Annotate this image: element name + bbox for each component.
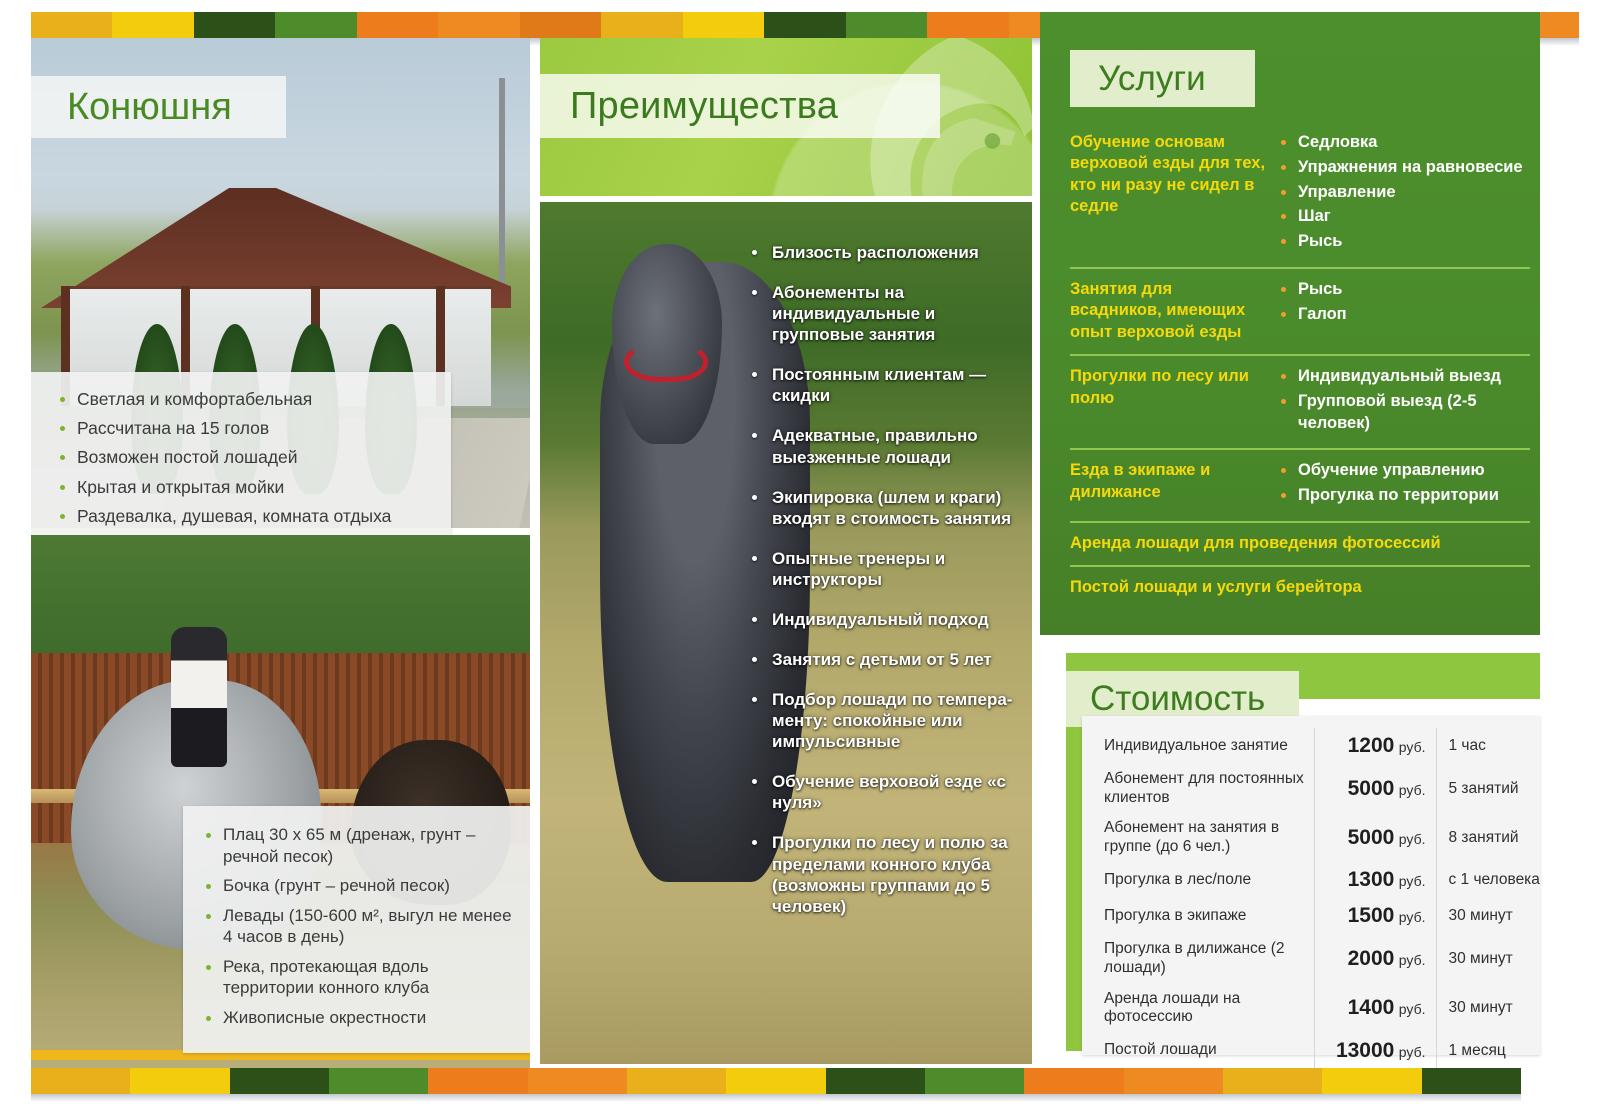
list-item: Индивидуальный выезд bbox=[1280, 366, 1530, 388]
stripe-segment bbox=[438, 12, 519, 38]
list-item: Опытные тренеры и инструкторы bbox=[750, 548, 1026, 590]
price-unit: 5 занятий bbox=[1436, 764, 1540, 813]
table-row: Езда в экипаже и дилижансе Обучение упра… bbox=[1070, 448, 1530, 521]
lamp-pole bbox=[499, 78, 505, 308]
bottom-stripe-bar bbox=[31, 1068, 1521, 1094]
list-item: Бочка (грунт – речной песок) bbox=[203, 875, 516, 897]
table-row: Прогулка в экипаже 1500 руб. 30 минут bbox=[1082, 898, 1540, 934]
list-item: Групповой выезд (2-5 человек) bbox=[1280, 391, 1530, 435]
list-item: Управление bbox=[1280, 182, 1530, 204]
price-amount: 13000 руб. bbox=[1314, 1033, 1436, 1069]
price-currency: руб. bbox=[1399, 1001, 1426, 1017]
table-row: Прогулки по лесу или полю Индивидуальный… bbox=[1070, 354, 1530, 448]
list-item: Абонементы на индивидуальные и групповые… bbox=[750, 282, 1026, 345]
list-item: Раздевалка, душевая, комната отдыха bbox=[57, 505, 429, 527]
price-currency: руб. bbox=[1399, 952, 1426, 968]
price-table: Индивидуальное занятие 1200 руб. 1 час А… bbox=[1082, 728, 1540, 1069]
advantages-title-chip: Преимущества bbox=[540, 74, 940, 138]
list-item: Рассчитана на 15 голов bbox=[57, 417, 429, 439]
stripe-segment bbox=[726, 1068, 825, 1094]
price-unit: 1 час bbox=[1436, 728, 1540, 764]
service-label: Прогулки по лесу или полю bbox=[1070, 366, 1280, 437]
stripe-segment bbox=[1422, 1068, 1521, 1094]
advantages-list: Близость расположения Абонементы на инди… bbox=[750, 242, 1026, 936]
stripe-segment bbox=[31, 12, 112, 38]
stripe-segment bbox=[925, 1068, 1024, 1094]
price-amount: 1400 руб. bbox=[1314, 984, 1436, 1033]
price-value: 2000 bbox=[1348, 947, 1395, 970]
list-item: Постоянным клиентам — скидки bbox=[750, 364, 1026, 406]
foal-photo: Близость расположения Абонементы на инди… bbox=[540, 202, 1032, 1064]
price-unit: 30 минут bbox=[1436, 898, 1540, 934]
stable-grounds-list: Плац 30 х 65 м (дренаж, грунт – речной п… bbox=[203, 824, 516, 1029]
table-row: Прогулка в дилижансе (2 лошади) 2000 руб… bbox=[1082, 934, 1540, 983]
stripe-segment bbox=[627, 1068, 726, 1094]
price-name: Аренда лошади на фотосессию bbox=[1082, 984, 1314, 1033]
service-items: Рысь Галоп bbox=[1280, 279, 1530, 343]
stripe-segment bbox=[1223, 1068, 1322, 1094]
list-item: Река, протекающая вдоль территории конно… bbox=[203, 956, 516, 999]
table-row: Обучение основам верховой езды для тех, … bbox=[1070, 124, 1530, 267]
price-currency: руб. bbox=[1399, 1044, 1426, 1060]
table-row: Занятия для всадников, имеющих опыт верх… bbox=[1070, 267, 1530, 354]
list-item: Экипировка (шлем и краги) входят в стоим… bbox=[750, 487, 1026, 529]
price-value: 5000 bbox=[1348, 777, 1395, 800]
table-row: Аренда лошади для проведения фотосессий bbox=[1070, 521, 1530, 565]
list-item: Крытая и открытая мойки bbox=[57, 476, 429, 498]
price-unit: 30 минут bbox=[1436, 984, 1540, 1033]
price-currency: руб. bbox=[1399, 873, 1426, 889]
brochure-page: Конюшня Светлая и комфортабельная Рассчи… bbox=[0, 0, 1603, 1106]
stripe-segment bbox=[112, 12, 193, 38]
service-items: Обучение управлению Прогулка по территор… bbox=[1280, 460, 1530, 510]
price-currency: руб. bbox=[1399, 739, 1426, 755]
price-amount: 5000 руб. bbox=[1314, 764, 1436, 813]
price-unit: 1 месяц bbox=[1436, 1033, 1540, 1069]
advantages-header: Преимущества bbox=[540, 38, 1032, 196]
stripe-segment bbox=[528, 1068, 627, 1094]
price-card: Индивидуальное занятие 1200 руб. 1 час А… bbox=[1082, 716, 1540, 1055]
table-row: Аренда лошади на фотосессию 1400 руб. 30… bbox=[1082, 984, 1540, 1033]
services-title: Услуги bbox=[1070, 50, 1255, 107]
list-item: Упражнения на равновесие bbox=[1280, 157, 1530, 179]
advantages-title: Преимущества bbox=[540, 74, 940, 138]
table-row: Постой лошади 13000 руб. 1 месяц bbox=[1082, 1033, 1540, 1069]
price-currency: руб. bbox=[1399, 909, 1426, 925]
list-item: Рысь bbox=[1280, 279, 1530, 301]
price-unit: с 1 человека bbox=[1436, 862, 1540, 898]
services-panel: Услуги Обучение основам верховой езды дл… bbox=[1040, 12, 1540, 635]
list-item: Седловка bbox=[1280, 132, 1530, 154]
stable-title-chip: Конюшня bbox=[31, 76, 286, 138]
list-item: Галоп bbox=[1280, 304, 1530, 326]
price-value: 1400 bbox=[1348, 996, 1395, 1019]
stripe-segment bbox=[230, 1068, 329, 1094]
stripe-segment bbox=[31, 1068, 130, 1094]
list-item: Светлая и комфортабельная bbox=[57, 388, 429, 410]
list-item: Прогулка по территории bbox=[1280, 485, 1530, 507]
price-name: Прогулка в лес/поле bbox=[1082, 862, 1314, 898]
price-name: Индивидуальное занятие bbox=[1082, 728, 1314, 764]
list-item: Обучение управлению bbox=[1280, 460, 1530, 482]
table-row: Абонемент для постоянных клиентов 5000 р… bbox=[1082, 764, 1540, 813]
services-table: Обучение основам верховой езды для тех, … bbox=[1070, 124, 1530, 610]
table-row: Индивидуальное занятие 1200 руб. 1 час bbox=[1082, 728, 1540, 764]
price-name: Постой лошади bbox=[1082, 1033, 1314, 1069]
price-amount: 1500 руб. bbox=[1314, 898, 1436, 934]
stripe-segment bbox=[826, 1068, 925, 1094]
price-amount: 2000 руб. bbox=[1314, 934, 1436, 983]
service-label: Аренда лошади для проведения фотосессий bbox=[1070, 533, 1530, 554]
young-rider bbox=[171, 627, 227, 767]
list-item: Адекватные, правильно выезженные лошади bbox=[750, 425, 1026, 467]
price-amount: 1200 руб. bbox=[1314, 728, 1436, 764]
table-row: Абонемент на занятия в группе (до 6 чел.… bbox=[1082, 813, 1540, 862]
price-currency: руб. bbox=[1399, 782, 1426, 798]
service-items: Индивидуальный выезд Групповой выезд (2-… bbox=[1280, 366, 1530, 437]
stripe-segment bbox=[130, 1068, 229, 1094]
price-value: 5000 bbox=[1348, 826, 1395, 849]
red-halter bbox=[624, 342, 708, 382]
stripe-segment bbox=[357, 12, 438, 38]
service-label: Занятия для всадников, имеющих опыт верх… bbox=[1070, 279, 1280, 343]
service-label: Постой лошади и услуги берейтора bbox=[1070, 577, 1530, 598]
price-value: 13000 bbox=[1336, 1039, 1394, 1062]
stripe-segment bbox=[275, 12, 356, 38]
price-unit: 30 минут bbox=[1436, 934, 1540, 983]
stripe-segment bbox=[1322, 1068, 1421, 1094]
price-currency: руб. bbox=[1399, 831, 1426, 847]
list-item: Рысь bbox=[1280, 231, 1530, 253]
list-item: Плац 30 х 65 м (дренаж, грунт – речной п… bbox=[203, 824, 516, 867]
price-unit: 8 занятий bbox=[1436, 813, 1540, 862]
list-item: Обучение верховой езде «с нуля» bbox=[750, 771, 1026, 813]
price-name: Прогулка в дилижансе (2 лошади) bbox=[1082, 934, 1314, 983]
stripe-segment bbox=[194, 12, 275, 38]
stripe-segment bbox=[428, 1068, 527, 1094]
list-item: Левады (150-600 м², выгул не менее 4 час… bbox=[203, 905, 516, 948]
list-item: Занятия с детьми от 5 лет bbox=[750, 649, 1026, 670]
price-value: 1300 bbox=[1348, 868, 1395, 891]
list-item: Шаг bbox=[1280, 206, 1530, 228]
price-value: 1500 bbox=[1348, 904, 1395, 927]
price-amount: 5000 руб. bbox=[1314, 813, 1436, 862]
price-value: 1200 bbox=[1348, 734, 1395, 757]
list-item: Возможен постой лошадей bbox=[57, 446, 429, 468]
stable-title: Конюшня bbox=[31, 76, 286, 138]
list-item: Близость расположения bbox=[750, 242, 1026, 263]
table-row: Постой лошади и услуги берейтора bbox=[1070, 565, 1530, 609]
service-label: Обучение основам верховой езды для тех, … bbox=[1070, 132, 1280, 256]
services-column: Услуги Обучение основам верховой езды дл… bbox=[1040, 12, 1580, 635]
advantages-column: Преимущества Близость расположения Абоне… bbox=[540, 12, 1032, 1094]
price-name: Прогулка в экипаже bbox=[1082, 898, 1314, 934]
stable-features-list: Светлая и комфортабельная Рассчитана на … bbox=[57, 388, 429, 527]
bottom-stripe-shadow bbox=[31, 1094, 1521, 1102]
stable-column: Конюшня Светлая и комфортабельная Рассчи… bbox=[31, 38, 530, 1068]
stripe-segment bbox=[1024, 1068, 1123, 1094]
price-name: Абонемент для постоянных клиентов bbox=[1082, 764, 1314, 813]
services-title-chip: Услуги bbox=[1070, 50, 1255, 107]
service-items: Седловка Упражнения на равновесие Управл… bbox=[1280, 132, 1530, 256]
stable-features-card: Светлая и комфортабельная Рассчитана на … bbox=[31, 372, 451, 545]
stripe-segment bbox=[329, 1068, 428, 1094]
price-name: Абонемент на занятия в группе (до 6 чел.… bbox=[1082, 813, 1314, 862]
stripe-segment bbox=[1124, 1068, 1223, 1094]
table-row: Прогулка в лес/поле 1300 руб. с 1 челове… bbox=[1082, 862, 1540, 898]
list-item: Прогулки по лесу и полю за пределами кон… bbox=[750, 832, 1026, 916]
list-item: Подбор лошади по темпера-менту: спокойны… bbox=[750, 689, 1026, 752]
list-item: Индивидуальный подход bbox=[750, 609, 1026, 630]
service-label: Езда в экипаже и дилижансе bbox=[1070, 460, 1280, 510]
price-amount: 1300 руб. bbox=[1314, 862, 1436, 898]
stable-grounds-card: Плац 30 х 65 м (дренаж, грунт – речной п… bbox=[183, 806, 530, 1053]
list-item: Живописные окрестности bbox=[203, 1007, 516, 1029]
